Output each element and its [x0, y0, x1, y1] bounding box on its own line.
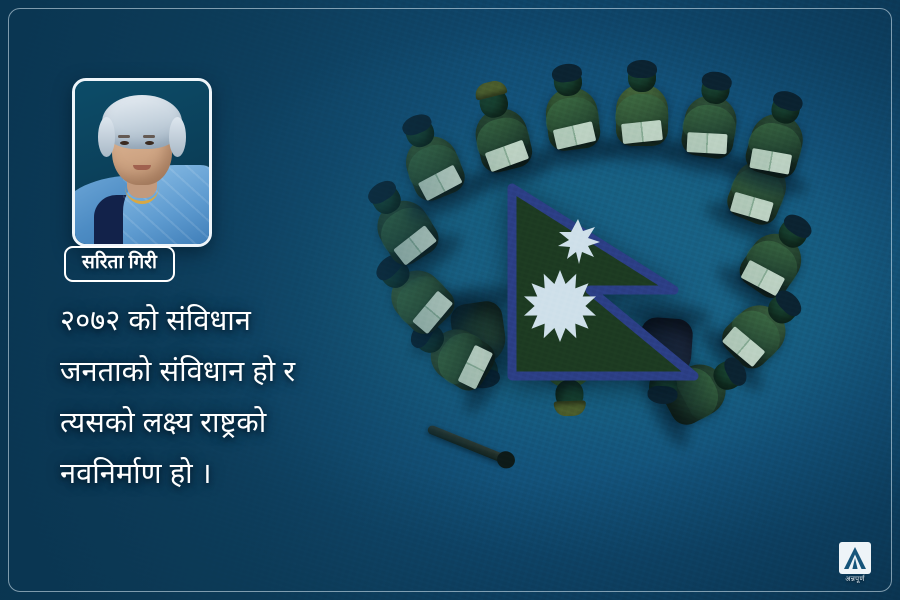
- quote-line: नवनिर्माण हो ।: [60, 449, 410, 500]
- quote-line: जनताको संविधान हो र: [60, 347, 410, 398]
- annapurna-mountain-icon: [839, 542, 871, 574]
- quote-line: २०७२ को संविधान: [60, 296, 410, 347]
- brand-logo: अन्नपूर्ण: [832, 542, 878, 584]
- poster-canvas: सरिता गिरी २०७२ को संविधान जनताको संविधा…: [0, 0, 900, 600]
- quote-line: त्यसको लक्ष्य राष्ट्रको: [60, 398, 410, 449]
- status-badge: सरिता गिरी: [64, 246, 175, 282]
- quote-text: २०७२ को संविधान जनताको संविधान हो र त्यस…: [60, 296, 410, 500]
- brand-logo-label: अन्नपूर्ण: [832, 575, 878, 584]
- avatar: [72, 78, 212, 247]
